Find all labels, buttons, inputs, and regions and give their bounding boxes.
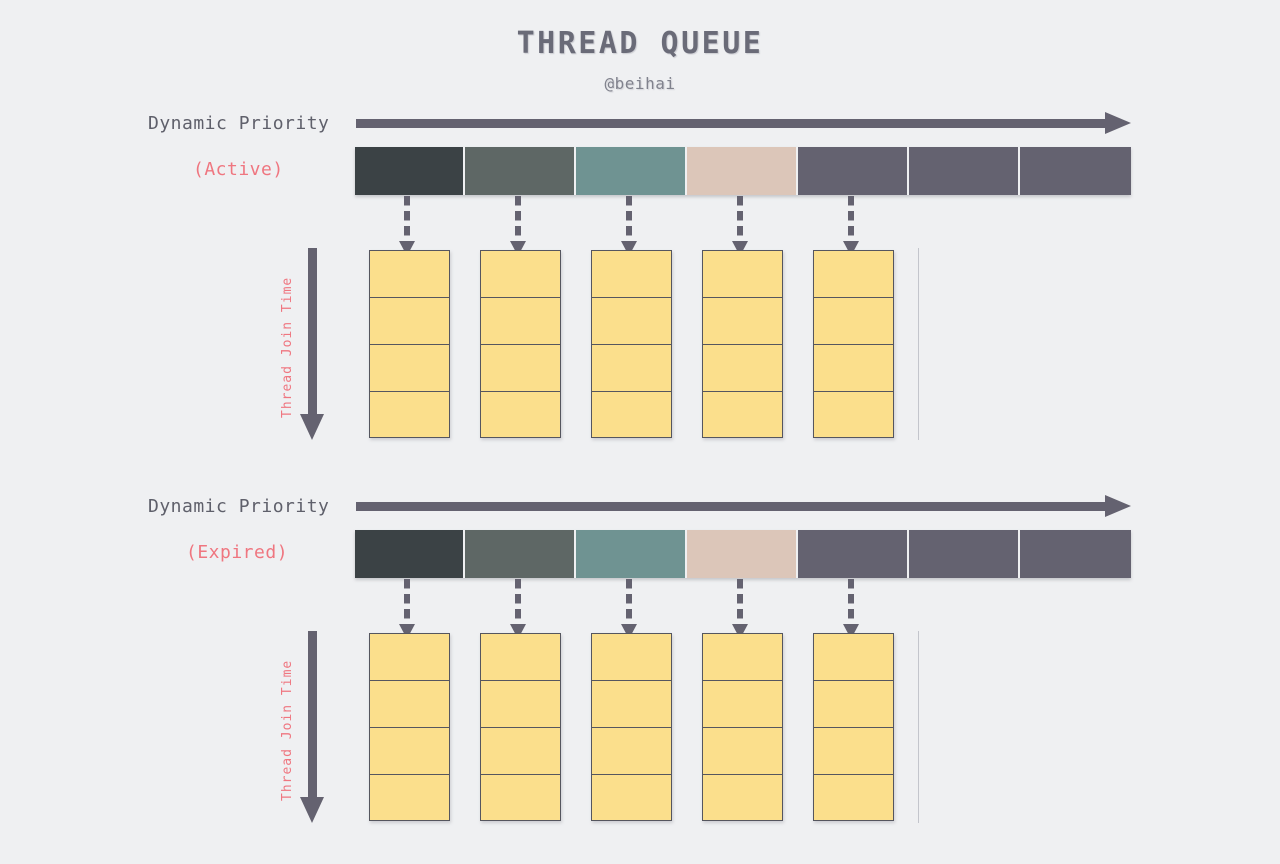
queue-connector-1 — [404, 579, 410, 639]
priority-segment-7 — [1020, 530, 1131, 578]
queue-column-4[interactable] — [702, 633, 783, 821]
queue-cell[interactable] — [813, 633, 894, 680]
queue-connector-1 — [404, 196, 410, 256]
queue-cell[interactable] — [813, 727, 894, 774]
priority-segment-3 — [576, 530, 687, 578]
priority-bar-active — [355, 147, 1131, 195]
dynamic-priority-arrow — [356, 119, 1131, 128]
diagram-canvas: THREAD QUEUE @beihai Dynamic Priority (A… — [0, 0, 1280, 864]
arrow-shaft — [308, 631, 317, 797]
priority-segment-4 — [687, 530, 798, 578]
arrow-shaft — [356, 119, 1105, 128]
queue-cell[interactable] — [480, 774, 561, 821]
connector-dashed-line — [515, 196, 521, 241]
connector-dashed-line — [626, 196, 632, 241]
priority-segment-1 — [355, 147, 465, 195]
queue-column-1[interactable] — [369, 633, 450, 821]
arrow-head — [1105, 495, 1131, 517]
priority-segment-3 — [576, 147, 687, 195]
queue-cell[interactable] — [369, 727, 450, 774]
queue-cell[interactable] — [480, 633, 561, 680]
thread-join-time-arrow — [300, 631, 324, 823]
queue-cell[interactable] — [813, 774, 894, 821]
state-label-active: (Active) — [193, 159, 284, 180]
state-label-expired: (Expired) — [186, 542, 288, 563]
queue-column-5[interactable] — [813, 633, 894, 821]
arrow-head — [1105, 112, 1131, 134]
connector-dashed-line — [404, 579, 410, 624]
queue-connector-4 — [737, 196, 743, 256]
priority-segment-6 — [909, 530, 1020, 578]
priority-bar-expired — [355, 530, 1131, 578]
queue-cell[interactable] — [702, 250, 783, 297]
connector-dashed-line — [515, 579, 521, 624]
priority-segment-6 — [909, 147, 1020, 195]
dynamic-priority-arrow — [356, 502, 1131, 511]
connector-dashed-line — [737, 579, 743, 624]
connector-dashed-line — [404, 196, 410, 241]
connector-dashed-line — [626, 579, 632, 624]
queue-cell[interactable] — [369, 250, 450, 297]
queue-connector-5 — [848, 579, 854, 639]
queue-cell[interactable] — [591, 633, 672, 680]
connector-dashed-line — [848, 579, 854, 624]
queue-cell[interactable] — [480, 250, 561, 297]
queue-connector-4 — [737, 579, 743, 639]
queue-cell[interactable] — [702, 680, 783, 727]
queue-cell[interactable] — [480, 727, 561, 774]
queue-cell[interactable] — [591, 680, 672, 727]
priority-segment-5 — [798, 530, 909, 578]
queue-cell[interactable] — [702, 633, 783, 680]
queue-cell[interactable] — [480, 297, 561, 344]
queue-connector-3 — [626, 579, 632, 639]
queue-cell[interactable] — [369, 774, 450, 821]
priority-segment-5 — [798, 147, 909, 195]
priority-segment-1 — [355, 530, 465, 578]
queue-cell[interactable] — [591, 297, 672, 344]
queue-connector-5 — [848, 196, 854, 256]
queue-cell[interactable] — [702, 297, 783, 344]
queue-cell[interactable] — [591, 774, 672, 821]
queue-cell[interactable] — [702, 727, 783, 774]
queue-column-2[interactable] — [480, 633, 561, 821]
queue-cell[interactable] — [369, 297, 450, 344]
queue-column-3[interactable] — [591, 633, 672, 821]
axis-label-dynamic-priority: Dynamic Priority — [148, 113, 329, 134]
axis-label-dynamic-priority: Dynamic Priority — [148, 496, 329, 517]
thread-join-time-label: Thread Join Time — [280, 660, 295, 801]
arrow-head — [300, 797, 324, 823]
queue-connector-2 — [515, 196, 521, 256]
queue-cell[interactable] — [480, 680, 561, 727]
queue-cell[interactable] — [813, 680, 894, 727]
queue-cell[interactable] — [369, 633, 450, 680]
connector-dashed-line — [737, 196, 743, 241]
queue-connector-3 — [626, 196, 632, 256]
section-expired: Dynamic Priority (Expired) Thread Join T… — [0, 383, 1280, 853]
queue-cell[interactable] — [591, 250, 672, 297]
priority-segment-2 — [465, 530, 576, 578]
queue-area-edge — [918, 631, 919, 823]
queue-connector-2 — [515, 579, 521, 639]
priority-segment-4 — [687, 147, 798, 195]
queue-cell[interactable] — [591, 727, 672, 774]
priority-segment-7 — [1020, 147, 1131, 195]
queue-cell[interactable] — [369, 680, 450, 727]
arrow-shaft — [356, 502, 1105, 511]
queue-cell[interactable] — [702, 774, 783, 821]
priority-segment-2 — [465, 147, 576, 195]
queue-cell[interactable] — [813, 250, 894, 297]
connector-dashed-line — [848, 196, 854, 241]
queue-cell[interactable] — [813, 297, 894, 344]
